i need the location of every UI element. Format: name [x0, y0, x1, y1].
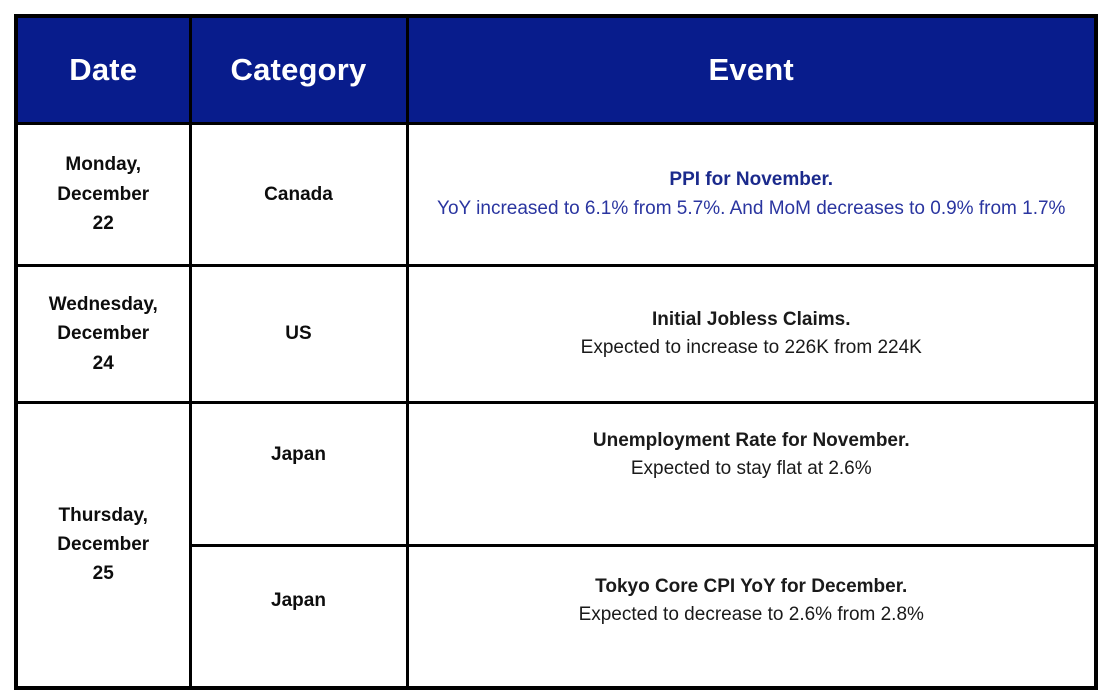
date-line: 25 — [93, 563, 114, 584]
cell-category: Japan — [190, 403, 407, 546]
event-detail: Expected to stay flat at 2.6% — [417, 455, 1087, 484]
calendar-table-container: Date Category Event Monday, December 22 … — [14, 14, 1098, 678]
date-line: December — [57, 323, 149, 344]
cell-category: Japan — [190, 546, 407, 688]
column-header-event: Event — [407, 16, 1096, 124]
cell-event: PPI for November. YoY increased to 6.1% … — [407, 124, 1096, 266]
economic-calendar-page: Date Category Event Monday, December 22 … — [0, 0, 1112, 700]
column-header-category: Category — [190, 16, 407, 124]
event-title: Initial Jobless Claims. — [417, 306, 1087, 335]
event-title: Tokyo Core CPI YoY for December. — [417, 573, 1087, 602]
cell-category: US — [190, 266, 407, 403]
event-detail: YoY increased to 6.1% from 5.7%. And MoM… — [417, 195, 1087, 224]
cell-category: Canada — [190, 124, 407, 266]
date-line: Thursday, — [59, 505, 148, 526]
table-row: Monday, December 22 Canada PPI for Novem… — [16, 124, 1096, 266]
date-line: 22 — [93, 213, 114, 234]
header-row: Date Category Event — [16, 16, 1096, 124]
column-header-date: Date — [16, 16, 190, 124]
event-title: Unemployment Rate for November. — [417, 427, 1087, 456]
table-header: Date Category Event — [16, 16, 1096, 124]
table-row: Wednesday, December 24 US Initial Jobles… — [16, 266, 1096, 403]
event-title: PPI for November. — [417, 166, 1087, 195]
table-body: Monday, December 22 Canada PPI for Novem… — [16, 124, 1096, 688]
date-line: Monday, — [65, 154, 141, 175]
cell-date: Monday, December 22 — [16, 124, 190, 266]
cell-date-merged: Thursday, December 25 — [16, 403, 190, 688]
date-line: December — [57, 534, 149, 555]
cell-date: Wednesday, December 24 — [16, 266, 190, 403]
date-line: December — [57, 184, 149, 205]
date-line: 24 — [93, 353, 114, 374]
event-detail: Expected to decrease to 2.6% from 2.8% — [417, 601, 1087, 630]
cell-event: Tokyo Core CPI YoY for December. Expecte… — [407, 546, 1096, 688]
event-detail: Expected to increase to 226K from 224K — [417, 334, 1087, 363]
cell-event: Initial Jobless Claims. Expected to incr… — [407, 266, 1096, 403]
economic-calendar-table: Date Category Event Monday, December 22 … — [14, 14, 1098, 690]
date-line: Wednesday, — [49, 294, 158, 315]
cell-event: Unemployment Rate for November. Expected… — [407, 403, 1096, 546]
table-row: Thursday, December 25 Japan Unemployment… — [16, 403, 1096, 546]
